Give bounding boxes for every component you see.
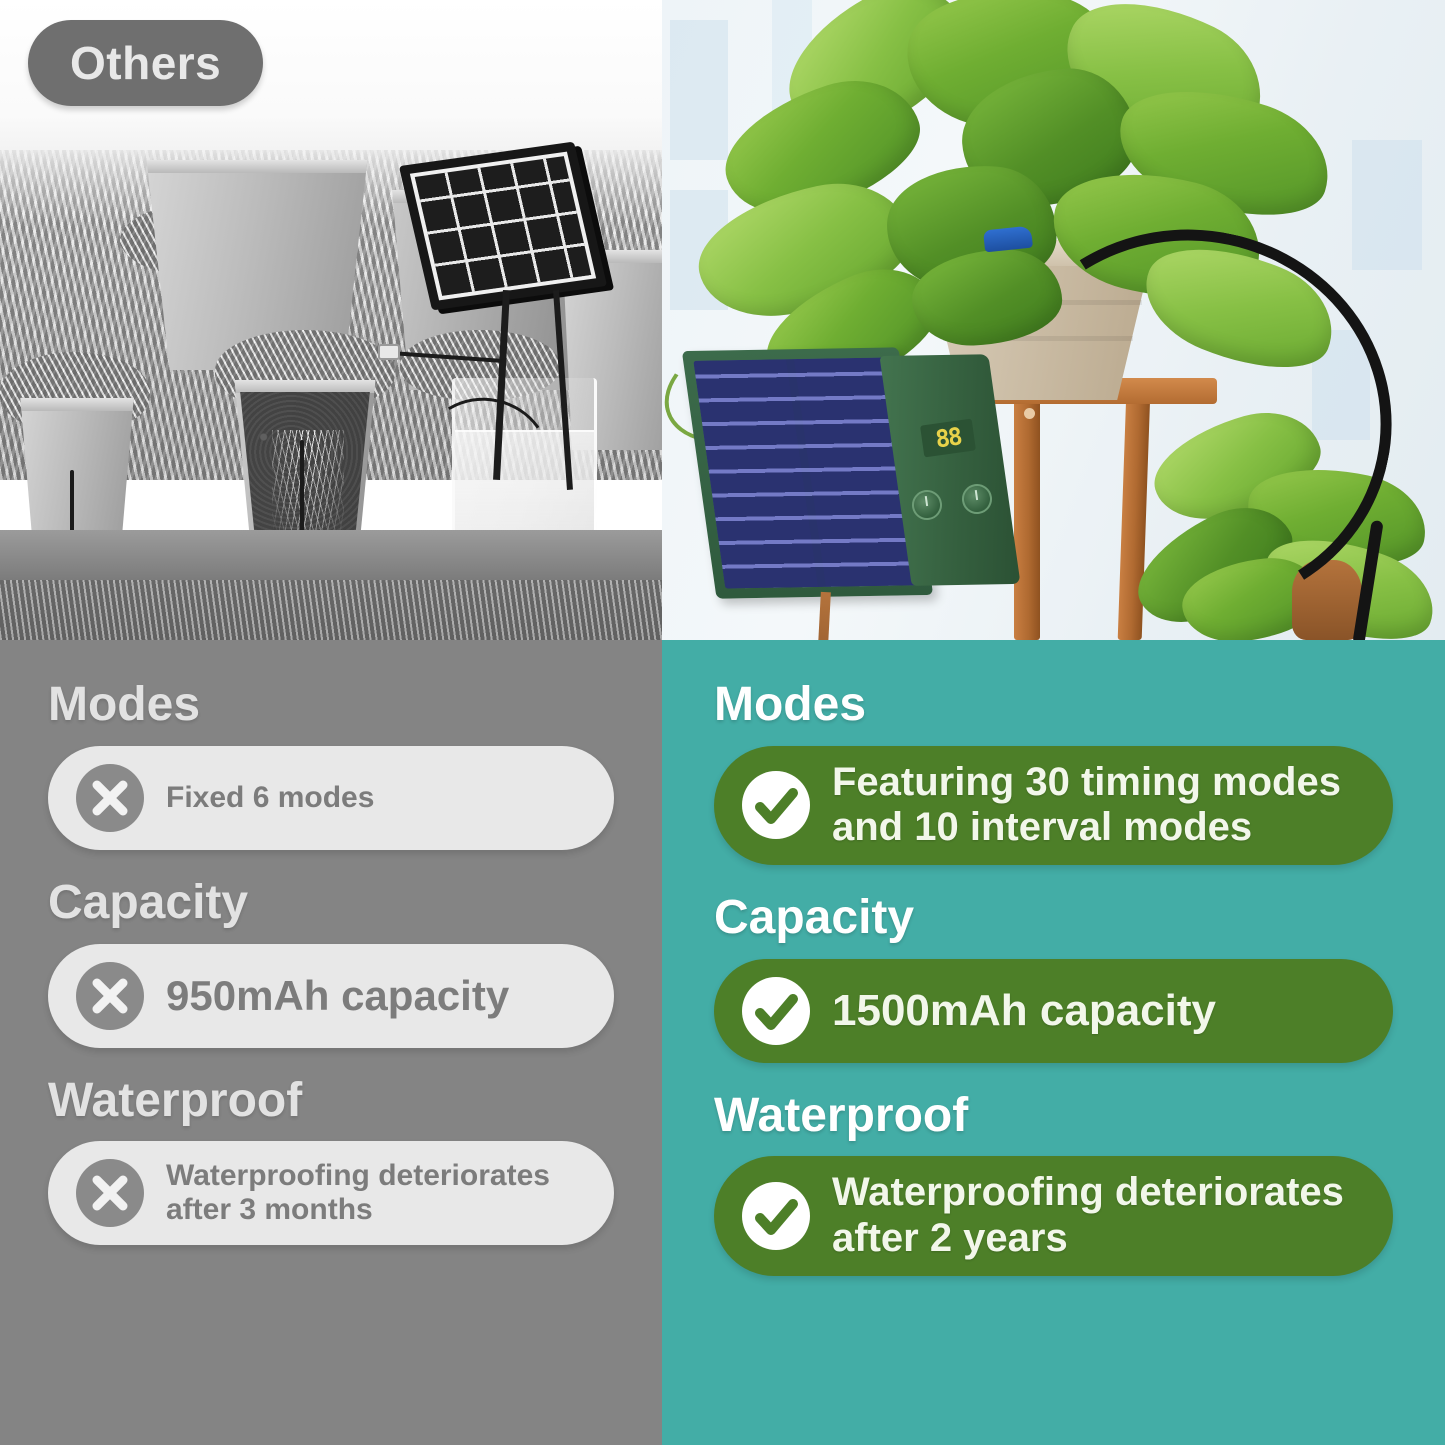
others-feature-text: Waterproofing deteriorates after 3 month… — [166, 1159, 588, 1227]
section-title: Modes — [48, 678, 614, 732]
others-feature-text: Fixed 6 modes — [166, 781, 374, 815]
others-feature-text: 950mAh capacity — [166, 972, 509, 1020]
ours-section-waterproof: Waterproof Waterproofing deteriorates af… — [714, 1089, 1393, 1276]
ours-feature-pill: 1500mAh capacity — [714, 959, 1393, 1063]
others-feature-pill: Fixed 6 modes — [48, 746, 614, 850]
solar-watering-device: 88 — [700, 330, 1030, 605]
check-icon — [740, 1180, 812, 1252]
cross-icon — [74, 1157, 146, 1229]
others-feature-list: Modes Fixed 6 modes Capacity — [0, 640, 662, 1445]
check-icon — [740, 975, 812, 1047]
others-section-waterproof: Waterproof Waterproofing deteriorates af… — [48, 1074, 614, 1246]
ours-section-modes: Modes Featuring 30 timing modes and 10 i… — [714, 678, 1393, 865]
drip-emitter-icon — [378, 344, 400, 360]
ours-product-photo: 88 — [662, 0, 1445, 640]
others-feature-pill: Waterproofing deteriorates after 3 month… — [48, 1141, 614, 1245]
product-comparison-infographic: Others Modes Fixed 6 modes Cap — [0, 0, 1445, 1445]
check-icon — [740, 769, 812, 841]
others-section-modes: Modes Fixed 6 modes — [48, 678, 614, 850]
ours-feature-list: Modes Featuring 30 timing modes and 10 i… — [662, 640, 1445, 1445]
ours-feature-text: Waterproofing deteriorates after 2 years — [832, 1170, 1367, 1261]
section-title: Capacity — [48, 876, 614, 930]
others-column: Others Modes Fixed 6 modes Cap — [0, 0, 662, 1445]
section-title: Waterproof — [714, 1089, 1393, 1143]
section-title: Capacity — [714, 891, 1393, 945]
others-section-capacity: Capacity 950mAh capacity — [48, 876, 614, 1048]
ours-feature-text: 1500mAh capacity — [832, 986, 1216, 1036]
others-product-photo: Others — [0, 0, 662, 640]
others-badge: Others — [28, 20, 263, 106]
ours-section-capacity: Capacity 1500mAh capacity — [714, 891, 1393, 1063]
ours-column: 88 Modes — [662, 0, 1445, 1445]
ours-feature-pill: Featuring 30 timing modes and 10 interva… — [714, 746, 1393, 865]
ours-feature-text: Featuring 30 timing modes and 10 interva… — [832, 760, 1367, 851]
cross-icon — [74, 960, 146, 1032]
ours-feature-pill: Waterproofing deteriorates after 2 years — [714, 1156, 1393, 1275]
others-feature-pill: 950mAh capacity — [48, 944, 614, 1048]
solar-panel-grayscale-icon — [399, 142, 607, 311]
section-title: Modes — [714, 678, 1393, 732]
cross-icon — [74, 762, 146, 834]
section-title: Waterproof — [48, 1074, 614, 1128]
